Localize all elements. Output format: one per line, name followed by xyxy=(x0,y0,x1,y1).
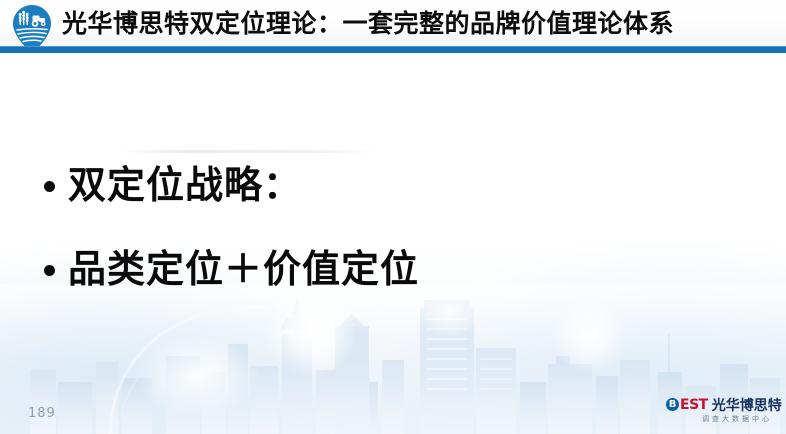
brand-mark-text: EST xyxy=(680,397,708,413)
brand-name-cn: 光华博思特 xyxy=(712,395,782,415)
list-item: 品类定位＋价值定位 xyxy=(44,246,744,294)
presentation-slide: 光华博思特双定位理论：一套完整的品牌价值理论体系 双定位战略： 品类定位＋价值定… xyxy=(0,0,786,434)
title-rule xyxy=(0,47,786,53)
bullet-dot-icon xyxy=(44,265,55,276)
list-item: 双定位战略： xyxy=(44,162,744,210)
brand-tagline: 调查大数据中心 xyxy=(666,414,774,424)
brand-wordmark: B EST 光华博思特 xyxy=(666,396,774,413)
page-title: 光华博思特双定位理论：一套完整的品牌价值理论体系 xyxy=(62,6,674,42)
brand-mark-icon: B xyxy=(666,398,679,411)
slide-body: 双定位战略： 品类定位＋价值定位 xyxy=(44,162,744,330)
page-number: 189 xyxy=(28,406,56,421)
bullet-label: 双定位战略： xyxy=(68,162,302,210)
brand-watermark: B EST 光华博思特 调查大数据中心 xyxy=(666,396,774,426)
bullet-label: 品类定位＋价值定位 xyxy=(68,246,419,294)
bullet-dot-icon xyxy=(44,181,55,192)
slide-header: 光华博思特双定位理论：一套完整的品牌价值理论体系 xyxy=(0,0,786,47)
map-pin-farm-logo-icon xyxy=(10,3,54,47)
background-streak-artifact xyxy=(120,150,380,153)
